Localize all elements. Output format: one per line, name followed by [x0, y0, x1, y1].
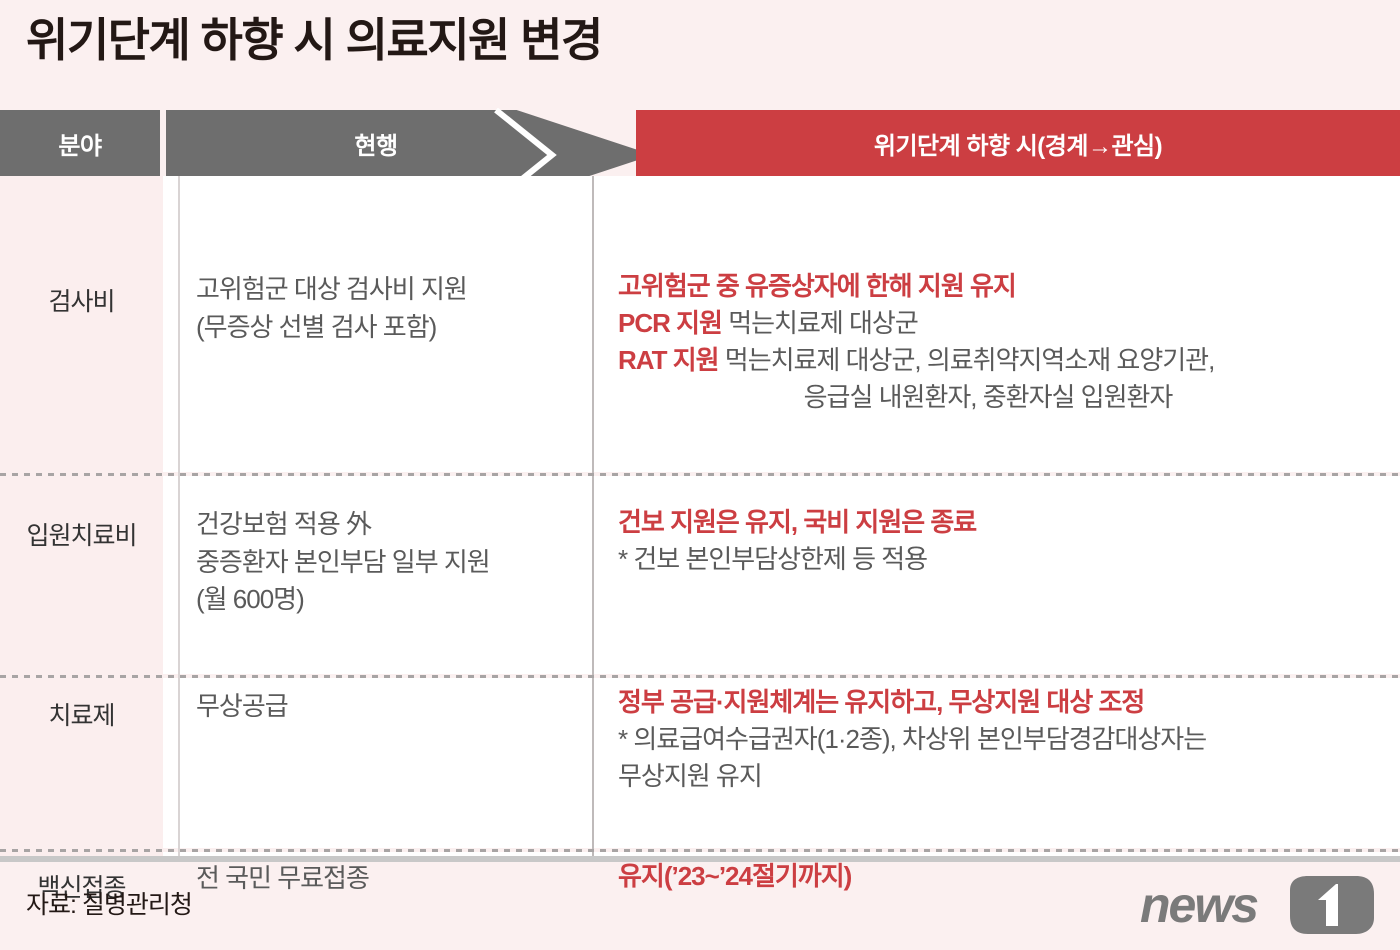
- cell-current-3-line-1: 무상공급: [196, 688, 586, 726]
- cell-current-4-line-1: 전 국민 무료접종: [196, 860, 586, 898]
- cell-category-3: 치료제: [48, 702, 114, 730]
- cell-category-1: 검사비: [48, 288, 114, 316]
- table-header-row: 분야 현행 위기단계 하향 시(경계→관심): [0, 110, 1400, 176]
- cell-current-2-line-1: 건강보험 적용 外: [196, 506, 586, 544]
- row-divider-1: [0, 473, 1400, 476]
- cell-current-2: 건강보험 적용 外 중증환자 본인부담 일부 지원 (월 600명): [196, 506, 586, 619]
- cell-changed-1-line-2: PCR 지원 먹는치료제 대상군: [618, 305, 1388, 342]
- news1-logo: news: [1140, 874, 1376, 936]
- column-divider-1: [178, 176, 180, 856]
- cell-changed-2-line-1: 건보 지원은 유지, 국비 지원은 종료: [618, 504, 1388, 541]
- cell-current-2-line-2: 중증환자 본인부담 일부 지원: [196, 544, 586, 582]
- cell-changed-1-line-4: 응급실 내원환자, 중환자실 입원환자: [618, 379, 1388, 416]
- column-divider-2: [592, 176, 594, 856]
- table-row: 입원치료비: [0, 516, 163, 552]
- source-label: 자료: 질병관리청: [26, 885, 192, 921]
- table-body: 검사비 고위험군 대상 검사비 지원 (무증상 선별 검사 포함) 고위험군 중…: [0, 176, 1400, 862]
- cell-changed-3: 정부 공급·지원체계는 유지하고, 무상지원 대상 조정 * 의료급여수급권자(…: [618, 684, 1388, 795]
- header-cell-current-label: 현행: [166, 110, 586, 176]
- cell-current-1: 고위험군 대상 검사비 지원 (무증상 선별 검사 포함): [196, 271, 586, 346]
- cell-current-1-line-2: (무증상 선별 검사 포함): [196, 309, 586, 347]
- cell-current-3: 무상공급: [196, 688, 586, 726]
- table-row: 검사비: [0, 282, 163, 318]
- cell-changed-2-line-2: * 건보 본인부담상한제 등 적용: [618, 541, 1388, 578]
- cell-current-4: 전 국민 무료접종: [196, 860, 586, 898]
- svg-text:news: news: [1140, 877, 1258, 933]
- cell-changed-2: 건보 지원은 유지, 국비 지원은 종료 * 건보 본인부담상한제 등 적용: [618, 504, 1388, 578]
- page-title: 위기단계 하향 시 의료지원 변경: [26, 14, 602, 67]
- cell-changed-1-line-3: RAT 지원 먹는치료제 대상군, 의료취약지역소재 요양기관,: [618, 342, 1388, 379]
- header-cell-changed: 위기단계 하향 시(경계→관심): [636, 110, 1400, 176]
- cell-category-2: 입원치료비: [26, 522, 136, 550]
- row-divider-2: [0, 675, 1400, 678]
- comparison-table: 분야 현행 위기단계 하향 시(경계→관심) 검사비 고위험군 대상 검사비 지…: [0, 110, 1400, 862]
- cell-changed-1-line-1: 고위험군 중 유증상자에 한해 지원 유지: [618, 268, 1388, 305]
- cell-changed-3-line-3: 무상지원 유지: [618, 758, 1388, 795]
- row-background-4: [163, 852, 1400, 856]
- cell-changed-3-line-2: * 의료급여수급권자(1·2종), 차상위 본인부담경감대상자는: [618, 721, 1388, 758]
- table-row: 치료제: [0, 696, 163, 732]
- header-cell-category: 분야: [0, 110, 163, 176]
- row-divider-3: [0, 849, 1400, 852]
- cell-current-2-line-3: (월 600명): [196, 581, 586, 619]
- cell-changed-3-line-1: 정부 공급·지원체계는 유지하고, 무상지원 대상 조정: [618, 684, 1388, 721]
- cell-changed-1: 고위험군 중 유증상자에 한해 지원 유지 PCR 지원 먹는치료제 대상군 R…: [618, 268, 1388, 416]
- cell-current-1-line-1: 고위험군 대상 검사비 지원: [196, 271, 586, 309]
